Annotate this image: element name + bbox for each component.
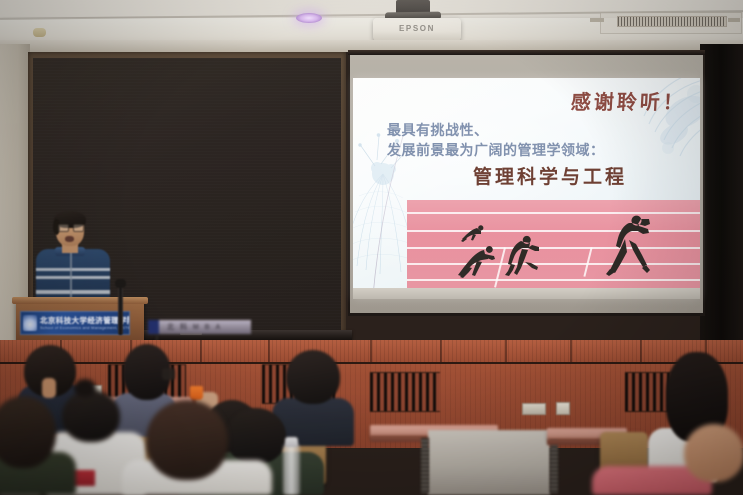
- mba-program-sign: 北 科 M B A: [148, 320, 251, 334]
- audience-head: [286, 350, 340, 404]
- air-vent-icon: [617, 16, 727, 27]
- runner-silhouette-1: [459, 224, 485, 244]
- track-lane-line: [407, 212, 700, 214]
- university-logo-icon: [23, 315, 37, 331]
- jacket-stripe: [36, 276, 110, 279]
- track-cross-line: [583, 247, 592, 277]
- ceiling-downlight-icon: [296, 13, 322, 23]
- slide-bottom-strip: [353, 288, 700, 299]
- podium-top-surface: [12, 297, 148, 304]
- water-bottle-cap: [285, 437, 298, 447]
- audience-head: [146, 400, 228, 480]
- track-lane-line: [407, 247, 700, 249]
- audience-head: [684, 424, 743, 482]
- wood-panel-seam: [268, 340, 270, 362]
- presentation-slide: 感谢聆听！ 最具有挑战性、 发展前景最为广阔的管理学领域： 管理科学与工程: [353, 78, 700, 299]
- wood-panel-seam: [440, 340, 442, 362]
- microphone-head-icon: [115, 279, 126, 288]
- wood-panel-seam: [570, 340, 572, 362]
- audience-glasses-icon: [162, 368, 175, 380]
- audience-head: [226, 408, 286, 464]
- dark-wall-right-of-screen: [700, 44, 743, 344]
- audience-hair-bun: [74, 379, 96, 397]
- mba-sign-label: 北 科 M B A: [167, 322, 222, 332]
- track-lane-line: [407, 279, 700, 281]
- podium-sign-english: School of Economics and Management, USTB: [40, 325, 130, 330]
- wall-outlet-plate: [522, 403, 546, 415]
- slide-thanks-text: 感谢聆听！: [570, 86, 687, 115]
- track-lane-line: [407, 230, 700, 232]
- water-bottle-object: [283, 443, 300, 495]
- track-lane-line: [407, 263, 700, 265]
- wood-panel-seam: [505, 340, 507, 362]
- vent-tab-right: [728, 18, 740, 22]
- runner-silhouette-4: [605, 212, 653, 280]
- slide-subtitle: 最具有挑战性、 发展前景最为广阔的管理学领域：: [387, 120, 605, 160]
- audience-head: [62, 390, 120, 442]
- ceiling-sensor-icon: [33, 28, 46, 37]
- runner-silhouette-3: [502, 234, 544, 278]
- podium-institution-sign: 北京科技大学经济管理学院 School of Economics and Man…: [20, 311, 130, 335]
- projector-brand-label: EPSON: [373, 24, 461, 33]
- wood-panel-seam: [200, 340, 202, 362]
- runner-silhouette-2: [457, 244, 497, 280]
- wood-panel-seam: [640, 340, 642, 362]
- orange-cup-object: [190, 386, 203, 400]
- slide-track-graphic: [407, 200, 700, 288]
- slide-subtitle-line2: 发展前景最为广阔的管理学领域：: [387, 140, 605, 160]
- wall-vent-grille: [370, 372, 440, 412]
- speaker-mouth: [65, 236, 74, 242]
- lecture-hall-photo: EPSON: [0, 0, 743, 495]
- jacket-stripe: [36, 268, 110, 271]
- audience-hand: [42, 378, 56, 398]
- slide-main-title: 管理科学与工程: [473, 162, 627, 189]
- desk-panel-vent: [421, 438, 429, 493]
- vent-tab-left: [590, 18, 604, 22]
- microphone-stand: [118, 283, 123, 335]
- jacket-stripe: [36, 290, 110, 294]
- desk-front-panel: [428, 430, 550, 495]
- projector: EPSON: [373, 18, 461, 42]
- wall-power-outlet-icon: [556, 402, 570, 415]
- desk-panel-vent: [550, 438, 558, 493]
- speaker-glasses-icon: [58, 224, 82, 230]
- wood-panel-seam: [370, 340, 372, 362]
- slide-subtitle-line1: 最具有挑战性、: [387, 120, 605, 140]
